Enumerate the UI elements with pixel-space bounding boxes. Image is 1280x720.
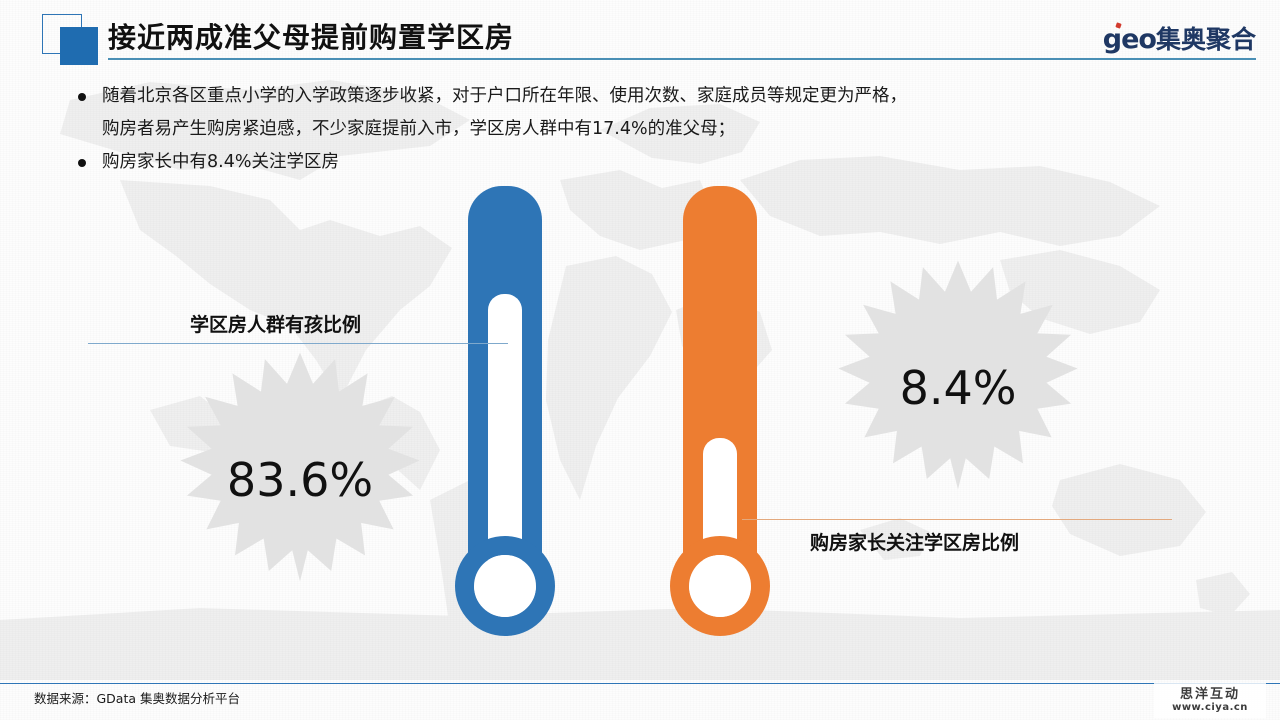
bullet-1-line-1: 随着北京各区重点小学的入学政策逐步收紧，对于户口所在年限、使用次数、家庭成员等规… bbox=[102, 80, 1250, 113]
watermark: 思洋互动 www.ciya.cn bbox=[1154, 683, 1266, 718]
list-item: 购房家长中有8.4%关注学区房 bbox=[70, 146, 1250, 179]
header-divider bbox=[108, 58, 1256, 60]
slide-header: 接近两成准父母提前购置学区房 geo集奥聚合 bbox=[0, 0, 1280, 66]
brand-logo-mark: geo bbox=[1103, 24, 1156, 55]
value-badge-blue: 83.6% bbox=[170, 350, 430, 610]
footer-divider bbox=[0, 683, 1280, 684]
list-item: 随着北京各区重点小学的入学政策逐步收紧，对于户口所在年限、使用次数、家庭成员等规… bbox=[70, 80, 1250, 146]
gauge-label-blue: 学区房人群有孩比例 bbox=[190, 310, 361, 337]
value-badge-blue-text: 83.6% bbox=[170, 350, 430, 610]
gauge-label-rule-orange bbox=[742, 519, 1172, 520]
bullet-1-line-2: 购房者易产生购房紧迫感，不少家庭提前入市，学区房人群中有17.4%的准父母； bbox=[102, 113, 1250, 146]
header-square-filled-icon bbox=[60, 27, 98, 65]
thermometer-bulb-inner bbox=[689, 555, 751, 617]
brand-logo: geo集奥聚合 bbox=[1103, 20, 1256, 56]
gauge-label-orange: 购房家长关注学区房比例 bbox=[810, 528, 1019, 555]
value-badge-orange: 8.4% bbox=[828, 258, 1088, 518]
gauge-thermometer-blue bbox=[455, 186, 555, 626]
watermark-url: www.ciya.cn bbox=[1172, 703, 1248, 713]
gauge-thermometer-orange bbox=[670, 186, 770, 626]
thermometer-bulb-inner bbox=[474, 555, 536, 617]
data-source-text: 数据来源：GData 集奥数据分析平台 bbox=[34, 688, 240, 707]
bullet-2-line-1: 购房家长中有8.4%关注学区房 bbox=[102, 146, 1250, 179]
page-title: 接近两成准父母提前购置学区房 bbox=[108, 16, 514, 56]
slide-canvas: 接近两成准父母提前购置学区房 geo集奥聚合 随着北京各区重点小学的入学政策逐步… bbox=[0, 0, 1280, 720]
watermark-name: 思洋互动 bbox=[1180, 688, 1240, 701]
bullet-list: 随着北京各区重点小学的入学政策逐步收紧，对于户口所在年限、使用次数、家庭成员等规… bbox=[70, 80, 1250, 179]
gauge-label-rule-blue bbox=[88, 343, 508, 344]
value-badge-orange-text: 8.4% bbox=[828, 258, 1088, 518]
brand-logo-text: 集奥聚合 bbox=[1156, 25, 1256, 54]
